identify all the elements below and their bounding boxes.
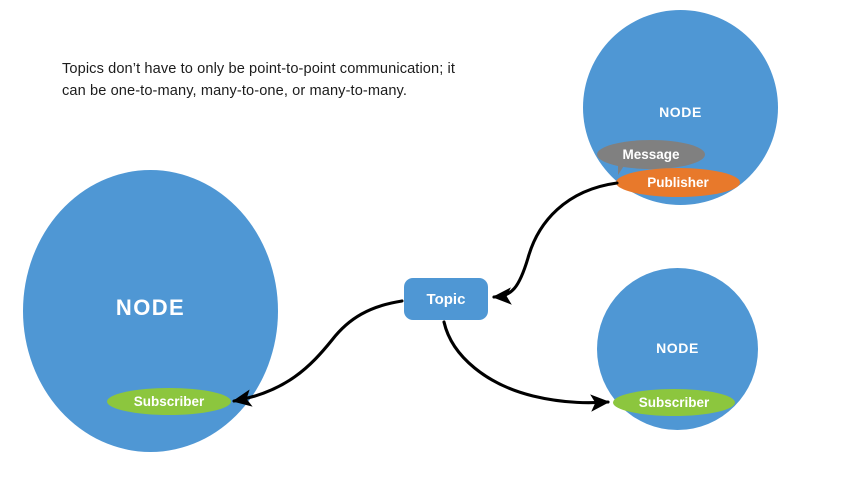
topic-box[interactable]: Topic: [404, 278, 488, 320]
diagram-canvas: Topics don’t have to only be point-to-po…: [0, 0, 854, 480]
subscriber-pill-right: Subscriber: [613, 389, 735, 416]
publisher-pill: Publisher: [616, 168, 740, 197]
node-label-top-right: NODE: [583, 104, 778, 120]
message-pill: Message: [597, 140, 705, 169]
arrow-topic-to-subscriber-right: [444, 322, 608, 403]
caption-text: Topics don’t have to only be point-to-po…: [62, 58, 482, 102]
caption-line-1: Topics don’t have to only be point-to-po…: [62, 58, 482, 80]
arrow-publisher-to-topic: [494, 183, 617, 297]
node-label-left: NODE: [23, 295, 278, 321]
subscriber-pill-left: Subscriber: [107, 388, 231, 415]
caption-line-2: can be one-to-many, many-to-one, or many…: [62, 80, 482, 102]
node-label-bottom-right: NODE: [597, 340, 758, 356]
